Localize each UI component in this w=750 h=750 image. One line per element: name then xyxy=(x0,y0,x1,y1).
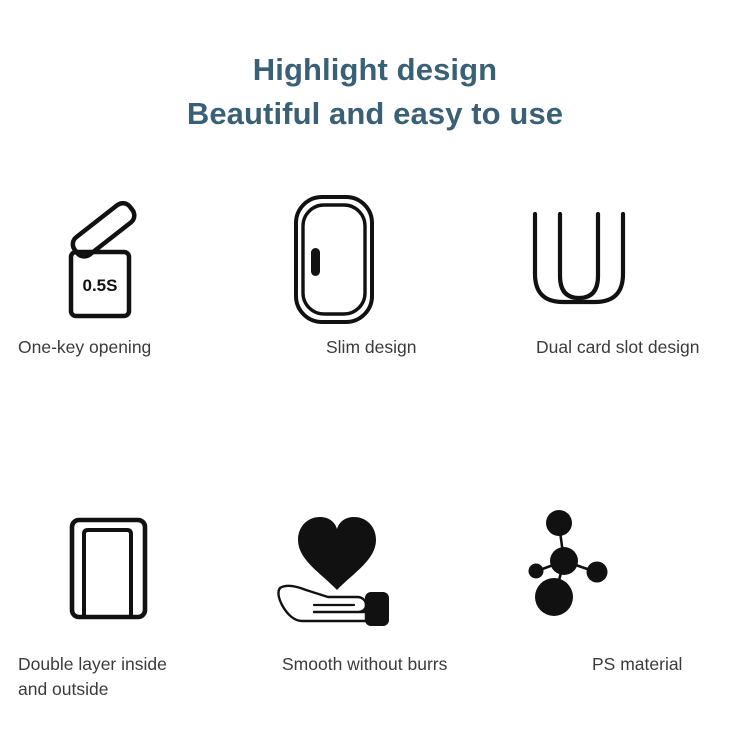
dual-card-slot-icon xyxy=(524,192,644,317)
feature-dual-card-slot: Dual card slot design xyxy=(500,190,750,380)
feature-smooth-without-burrs: Smooth without burrs xyxy=(250,504,500,694)
feature-row: 0.5S One-key opening Slim design xyxy=(0,190,750,380)
feature-label: Smooth without burrs xyxy=(282,652,447,677)
feature-ps-material: PS material xyxy=(500,504,750,694)
feature-grid: 0.5S One-key opening Slim design xyxy=(0,190,750,694)
box-open-lid-icon: 0.5S xyxy=(52,192,162,322)
feature-one-key-opening: 0.5S One-key opening xyxy=(0,190,250,380)
feature-double-layer: Double layer inside and outside xyxy=(0,504,250,694)
feature-label: Dual card slot design xyxy=(536,335,699,360)
icon-container xyxy=(250,190,500,335)
page-title-line-1: Highlight design xyxy=(0,48,750,92)
molecule-icon xyxy=(514,504,644,629)
icon-container xyxy=(0,504,250,649)
slim-rounded-device-icon xyxy=(278,192,388,327)
feature-label: PS material xyxy=(592,652,682,677)
promo-feature-panel: Highlight design Beautiful and easy to u… xyxy=(0,0,750,750)
page-title-line-2: Beautiful and easy to use xyxy=(0,92,750,136)
icon-container: 0.5S xyxy=(0,190,250,335)
feature-label: One-key opening xyxy=(18,335,151,360)
feature-slim-design: Slim design xyxy=(250,190,500,380)
feature-row: Double layer inside and outside xyxy=(0,504,750,694)
feature-label: Double layer inside and outside xyxy=(18,652,167,702)
heart-in-hand-icon xyxy=(262,504,412,629)
icon-container xyxy=(250,504,500,649)
icon-container xyxy=(500,190,750,335)
feature-label: Slim design xyxy=(326,335,416,360)
double-layer-rect-icon xyxy=(56,512,166,632)
badge-text: 0.5S xyxy=(83,276,118,295)
icon-container xyxy=(500,504,750,649)
page-header: Highlight design Beautiful and easy to u… xyxy=(0,48,750,136)
